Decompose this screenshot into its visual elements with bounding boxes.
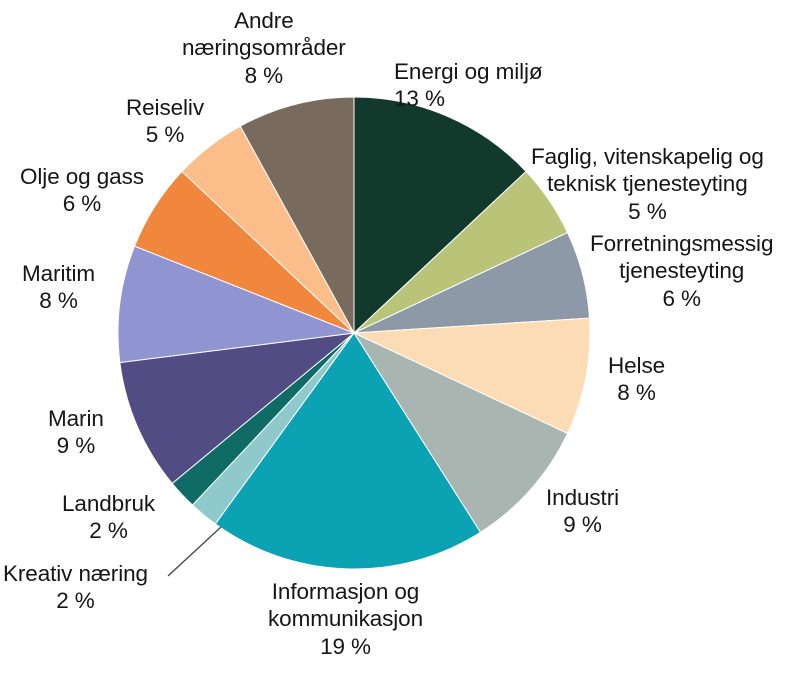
pie-slice-label-name: kommunikasjon bbox=[268, 605, 423, 632]
pie-slice-label-value: 19 % bbox=[268, 633, 423, 660]
pie-slice-label-value: 8 % bbox=[608, 379, 665, 406]
pie-slice-label-value: 6 % bbox=[20, 190, 144, 217]
pie-slice-label: Andrenæringsområder8 % bbox=[182, 7, 346, 89]
pie-slice-label-name: tjenesteyting bbox=[590, 257, 773, 284]
pie-slice-label: Olje og gass6 % bbox=[20, 163, 144, 218]
pie-slice-label-value: 8 % bbox=[22, 287, 95, 314]
pie-slice-label-name: Helse bbox=[608, 352, 665, 379]
pie-slice-label: Marin9 % bbox=[48, 405, 104, 460]
pie-slice-label-name: Landbruk bbox=[62, 490, 155, 517]
pie-slice-label-value: 2 % bbox=[3, 587, 148, 614]
pie-slice-label-name: Maritim bbox=[22, 260, 95, 287]
pie-slice-label-name: Forretningsmessig bbox=[590, 230, 773, 257]
pie-slice-label-name: Informasjon og bbox=[268, 578, 423, 605]
pie-slice-label-value: 5 % bbox=[531, 198, 764, 225]
leader-line bbox=[168, 527, 221, 576]
pie-slice-label: Energi og miljø13 % bbox=[394, 58, 543, 113]
pie-slice-label-name: Marin bbox=[48, 405, 104, 432]
pie-slice-label-name: Reiseliv bbox=[126, 94, 204, 121]
pie-slice-label: Helse8 % bbox=[608, 352, 665, 407]
pie-slice-label: Forretningsmessigtjenesteyting6 % bbox=[590, 230, 773, 312]
pie-slice-label: Informasjon ogkommunikasjon19 % bbox=[268, 578, 423, 660]
pie-slice-label-name: Industri bbox=[546, 484, 619, 511]
pie-slice-label-name: næringsområder bbox=[182, 34, 346, 61]
pie-slice-label-name: teknisk tjenesteyting bbox=[531, 170, 764, 197]
pie-slice-label-value: 9 % bbox=[546, 511, 619, 538]
pie-slice-label-name: Energi og miljø bbox=[394, 58, 543, 85]
pie-chart: Energi og miljø13 %Faglig, vitenskapelig… bbox=[0, 0, 800, 681]
pie-slice-label-name: Faglig, vitenskapelig og bbox=[531, 143, 764, 170]
pie-slice-label: Faglig, vitenskapelig ogteknisk tjeneste… bbox=[531, 143, 764, 225]
pie-slice-label-value: 5 % bbox=[126, 121, 204, 148]
pie-slice-label-value: 2 % bbox=[62, 517, 155, 544]
pie-slice-label-value: 13 % bbox=[394, 85, 543, 112]
pie-slice-label-value: 8 % bbox=[182, 62, 346, 89]
pie-slice-label-value: 6 % bbox=[590, 285, 773, 312]
pie-slice-label-value: 9 % bbox=[48, 432, 104, 459]
pie-slice-label: Landbruk2 % bbox=[62, 490, 155, 545]
pie-slice-label: Maritim8 % bbox=[22, 260, 95, 315]
pie-slice-label: Reiseliv5 % bbox=[126, 94, 204, 149]
pie-slice-label-name: Olje og gass bbox=[20, 163, 144, 190]
pie-slice-label: Kreativ næring2 % bbox=[3, 560, 148, 615]
pie-slice-label-name: Andre bbox=[182, 7, 346, 34]
pie-slice-label: Industri9 % bbox=[546, 484, 619, 539]
pie-slice-label-name: Kreativ næring bbox=[3, 560, 148, 587]
